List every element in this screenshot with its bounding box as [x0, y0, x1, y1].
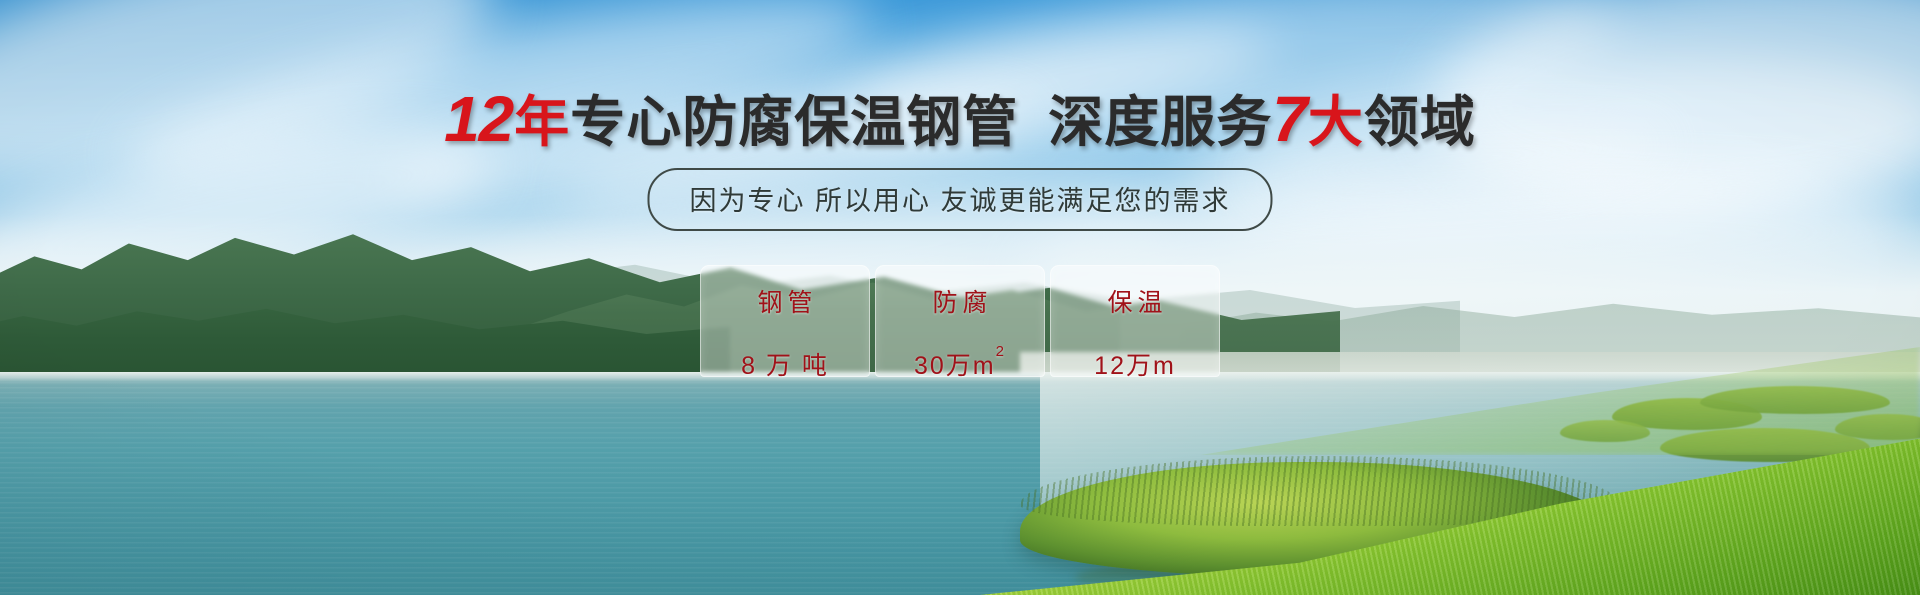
stat-card-insulation[interactable]: 保温 12万m: [1050, 265, 1220, 377]
stat-card-value: 8 万 吨: [741, 346, 829, 382]
headline-fields-segment: 领域: [1364, 91, 1476, 153]
stat-card-value: 12万m: [1094, 346, 1176, 382]
headline-main-segment: 专心防腐保温钢管: [570, 91, 1018, 153]
stat-card-title: 钢管: [752, 283, 817, 319]
headline-fields-number: 7: [1272, 83, 1307, 155]
stat-card-value: 30万m2: [914, 346, 1006, 382]
banner-content: 12年专心防腐保温钢管深度服务7大领域 因为专心 所以用心 友诚更能满足您的需求…: [0, 0, 1920, 595]
stat-card-value-text: 8 万 吨: [741, 352, 829, 380]
stat-card-title: 防腐: [927, 283, 992, 319]
stat-card-anticorrosion[interactable]: 防腐 30万m2: [875, 265, 1045, 377]
headline: 12年专心防腐保温钢管深度服务7大领域: [0, 86, 1920, 153]
stat-card-value-text: 12万m: [1094, 352, 1176, 380]
stat-card-steel-pipe[interactable]: 钢管 8 万 吨: [700, 265, 870, 377]
promo-banner: 12年专心防腐保温钢管深度服务7大领域 因为专心 所以用心 友诚更能满足您的需求…: [0, 0, 1920, 595]
stat-card-value-text: 30万m: [914, 352, 996, 380]
headline-years-number: 12: [444, 83, 513, 155]
stat-card-title: 保温: [1102, 283, 1167, 319]
headline-years-unit: 年: [514, 91, 570, 153]
stat-card-value-superscript: 2: [996, 343, 1006, 360]
headline-service-segment: 深度服务: [1048, 91, 1272, 153]
tagline-pill: 因为专心 所以用心 友诚更能满足您的需求: [647, 168, 1272, 231]
headline-fields-big: 大: [1308, 91, 1364, 153]
stat-card-group: 钢管 8 万 吨 防腐 30万m2 保温 12万m: [700, 265, 1220, 377]
